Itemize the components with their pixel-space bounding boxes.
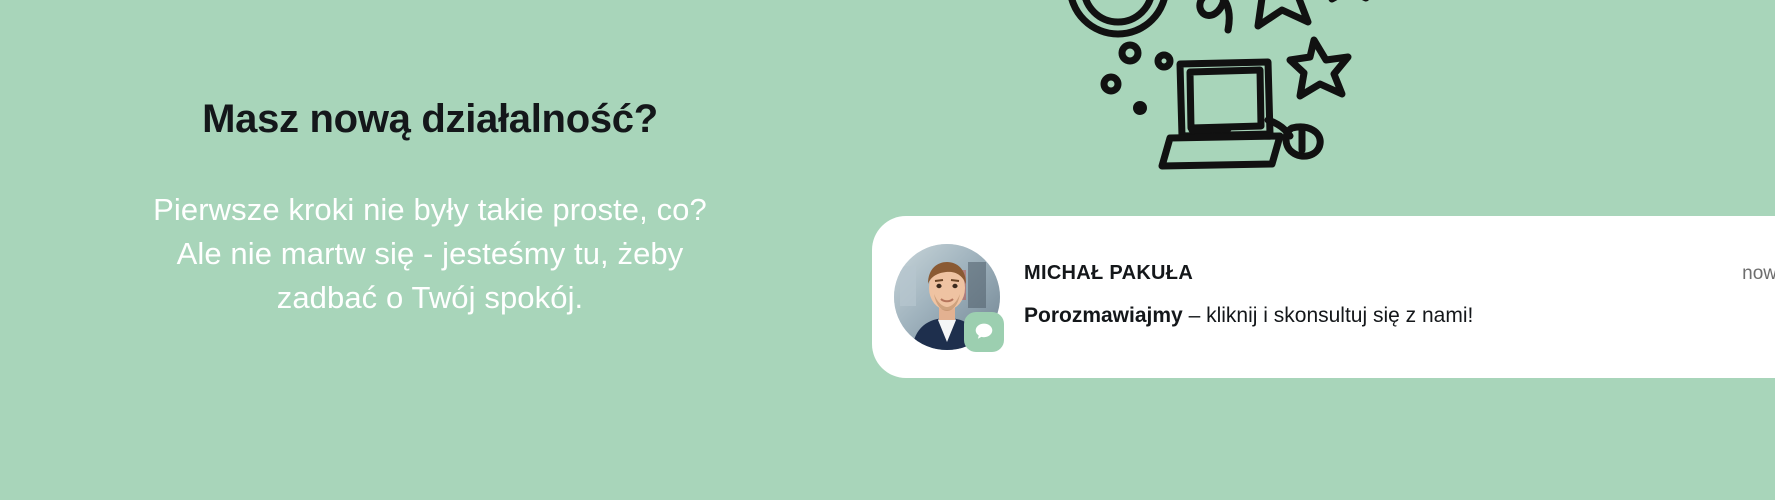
page-title: Masz nową działalność? (0, 96, 860, 142)
message-text: Porozmawiajmy – kliknij i skonsultuj się… (1024, 301, 1624, 331)
star-doodle-large (1244, 0, 1316, 26)
chat-bubble[interactable]: MICHAŁ PAKUŁA now Porozmawiajmy – klikni… (872, 216, 1775, 378)
squiggle-doodle (1188, 0, 1229, 30)
copy-block: Masz nową działalność? Pierwsze kroki ni… (0, 96, 860, 320)
message-bold: Porozmawiajmy (1024, 304, 1183, 327)
avatar (894, 244, 1000, 350)
subtitle-line-3: zadbać o Twój spokój. (0, 276, 860, 320)
message-rest: – kliknij i skonsultuj się z nami! (1183, 304, 1474, 327)
sender-name: MICHAŁ PAKUŁA (1024, 262, 1193, 285)
laptop-doodle (1162, 62, 1280, 166)
subtitle: Pierwsze kroki nie były takie proste, co… (0, 188, 860, 320)
subtitle-line-1: Pierwsze kroki nie były takie proste, co… (0, 188, 860, 232)
star-doodle-medium (1290, 40, 1348, 96)
doodle-illustration (1040, 0, 1400, 198)
subtitle-line-2: Ale nie martw się - jesteśmy tu, żeby (0, 232, 860, 276)
dot-doodle (1104, 45, 1170, 115)
chat-bubble-body: MICHAŁ PAKUŁA now Porozmawiajmy – klikni… (1024, 262, 1775, 331)
promo-banner: Masz nową działalność? Pierwsze kroki ni… (0, 0, 1775, 500)
clock-doodle (1070, 0, 1166, 34)
mouse-doodle (1268, 120, 1320, 156)
timestamp: now (1742, 263, 1775, 285)
chat-bubble-icon (964, 312, 1004, 352)
chat-bubble-header: MICHAŁ PAKUŁA now (1024, 262, 1775, 285)
